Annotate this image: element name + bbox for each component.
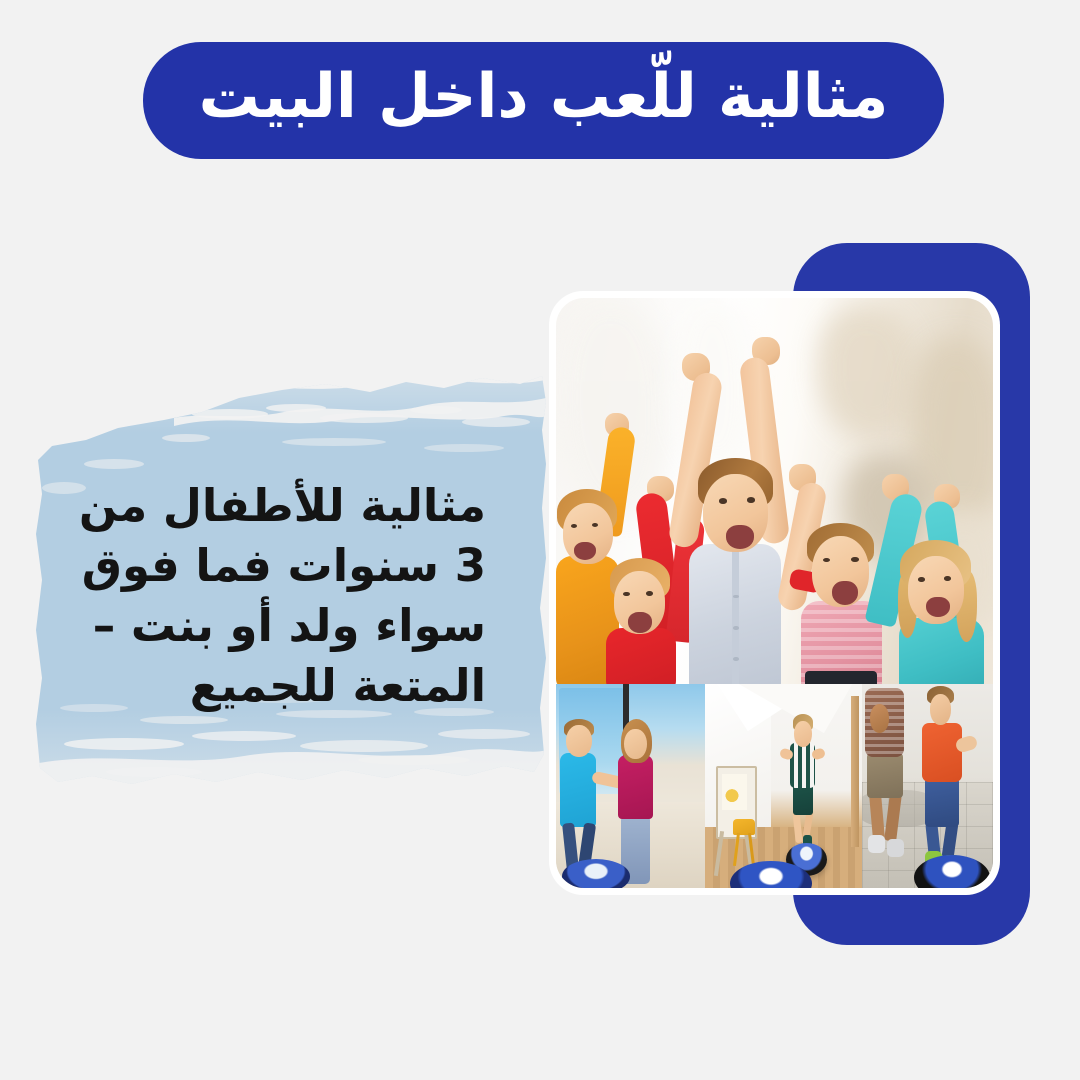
cheering-children-photo <box>556 298 993 689</box>
brushstroke-text-block: مثالية للأطفال من 3 سنوات فما فوق سواء و… <box>34 368 546 830</box>
headline-banner: مثالية للّعب داخل البيت <box>143 42 944 159</box>
headline-text: مثالية للّعب داخل البيت <box>199 66 889 127</box>
photo-card <box>549 291 1000 895</box>
body-copy-text: مثالية للأطفال من 3 سنوات فما فوق سواء و… <box>44 476 486 715</box>
photo-collage-strip <box>556 684 993 888</box>
poster-canvas: مثالية للّعب داخل البيت <box>0 0 1080 1080</box>
photo-card-inner <box>556 298 993 888</box>
running-indoors-photo <box>556 684 705 888</box>
hover-ball-toy <box>562 859 630 888</box>
hover-ball-play-photo <box>705 684 862 888</box>
kids-tiled-floor-photo <box>862 684 993 888</box>
